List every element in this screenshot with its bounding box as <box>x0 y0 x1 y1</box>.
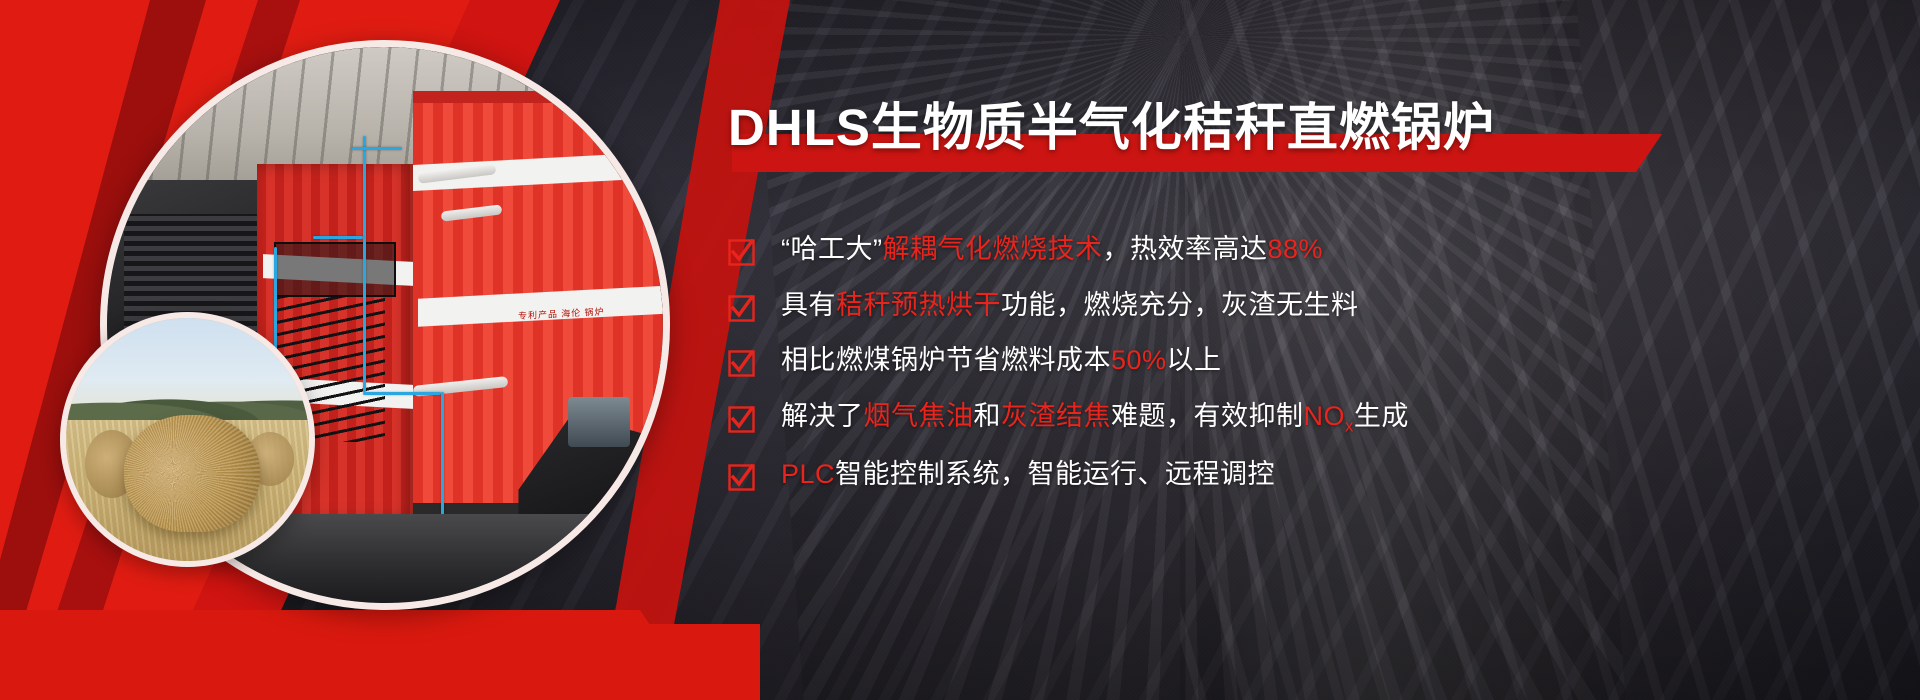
feature-list: “哈工大”解耦气化燃烧技术，热效率高达88% 具有秸秆预热烘干功能，燃烧充分，灰… <box>728 232 1878 492</box>
page-title: DHLS生物质半气化秸秆直燃锅炉 <box>728 86 1495 160</box>
checkbox-checked-icon <box>728 350 755 377</box>
blue-pipe-3 <box>441 392 444 525</box>
blue-pipe-5 <box>352 147 402 150</box>
blue-pipe-2 <box>363 392 441 395</box>
list-item: PLC智能控制系统，智能运行、远程调控 <box>728 457 1878 492</box>
feeder-motor <box>568 397 629 447</box>
blue-pipe-1 <box>363 136 366 392</box>
feature-text: 具有秸秆预热烘干功能，燃烧充分，灰渣无生料 <box>781 288 1359 323</box>
checkbox-checked-icon <box>728 295 755 322</box>
product-banner: 专利产品 海伦 锅炉 <box>0 0 1920 700</box>
checkbox-checked-icon <box>728 239 755 266</box>
content-column: DHLS生物质半气化秸秆直燃锅炉 “哈工大”解耦气化燃烧技术，热效率高达88% <box>728 86 1878 513</box>
title-block: DHLS生物质半气化秸秆直燃锅炉 <box>728 86 1878 184</box>
straw-bale-photo <box>60 312 315 567</box>
checkbox-checked-icon <box>728 464 755 491</box>
straw-bale-main <box>124 415 260 532</box>
feature-text: 相比燃煤锅炉节省燃料成本50%以上 <box>781 343 1222 378</box>
checkbox-checked-icon <box>728 406 755 433</box>
blue-pipe-4 <box>313 236 363 239</box>
red-bottom-bar <box>0 624 760 700</box>
list-item: 相比燃煤锅炉节省燃料成本50%以上 <box>728 343 1878 378</box>
feature-text: “哈工大”解耦气化燃烧技术，热效率高达88% <box>781 232 1323 267</box>
list-item: 具有秸秆预热烘干功能，燃烧充分，灰渣无生料 <box>728 288 1878 323</box>
feature-text: 解决了烟气焦油和灰渣结焦难题，有效抑制NOx生成 <box>781 399 1409 437</box>
feature-text: PLC智能控制系统，智能运行、远程调控 <box>781 457 1275 492</box>
list-item: “哈工大”解耦气化燃烧技术，热效率高达88% <box>728 232 1878 267</box>
boiler-service-platform <box>274 242 396 298</box>
list-item: 解决了烟气焦油和灰渣结焦难题，有效抑制NOx生成 <box>728 399 1878 437</box>
